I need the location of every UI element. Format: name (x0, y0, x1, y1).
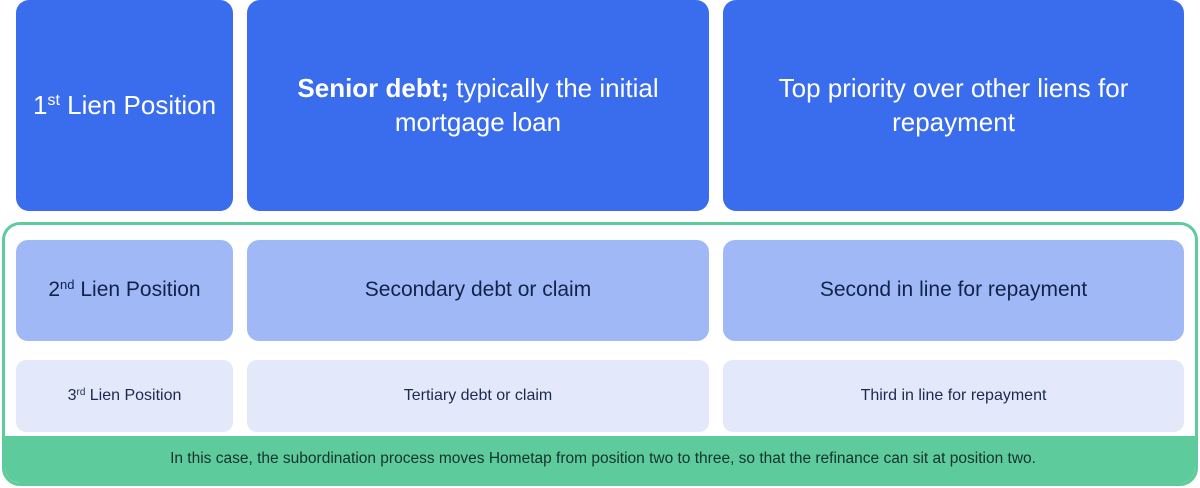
third-lien-ordinal-suffix: rd (77, 387, 86, 398)
second-lien-row: 2nd Lien Position Secondary debt or clai… (16, 240, 1184, 341)
subordination-note-bar: In this case, the subordination process … (5, 436, 1198, 483)
second-lien-ordinal-suffix: nd (60, 277, 74, 292)
first-lien-description-label: Senior debt; typically the initial mortg… (261, 72, 695, 139)
first-lien-priority-label: Top priority over other liens for repaym… (737, 72, 1170, 139)
row-gap (709, 0, 723, 211)
row-gap (233, 240, 247, 341)
first-lien-priority-card: Top priority over other liens for repaym… (723, 0, 1184, 211)
row-gap (233, 360, 247, 432)
third-lien-priority-card: Third in line for repayment (723, 360, 1184, 432)
first-lien-position-label: 1st Lien Position (33, 89, 216, 122)
second-lien-description-card: Secondary debt or claim (247, 240, 709, 341)
second-lien-priority-label: Second in line for repayment (820, 277, 1087, 304)
second-lien-position-card: 2nd Lien Position (16, 240, 233, 341)
first-lien-ordinal-number: 1 (33, 90, 47, 120)
second-lien-ordinal-number: 2 (48, 278, 60, 301)
row-gap (709, 360, 723, 432)
third-lien-position-card: 3rd Lien Position (16, 360, 233, 432)
third-lien-position-text: Lien Position (85, 387, 181, 404)
second-lien-position-text: Lien Position (75, 278, 201, 301)
first-lien-description-card: Senior debt; typically the initial mortg… (247, 0, 709, 211)
second-lien-priority-card: Second in line for repayment (723, 240, 1184, 341)
subordination-note-text: In this case, the subordination process … (170, 450, 1036, 469)
third-lien-priority-label: Third in line for repayment (861, 386, 1047, 406)
row-gap (233, 0, 247, 211)
third-lien-position-label: 3rd Lien Position (68, 386, 182, 406)
third-lien-row: 3rd Lien Position Tertiary debt or claim… (16, 360, 1184, 432)
second-lien-description-label: Secondary debt or claim (365, 277, 591, 304)
third-lien-ordinal-number: 3 (68, 387, 77, 404)
first-lien-ordinal-suffix: st (47, 91, 60, 109)
second-lien-position-label: 2nd Lien Position (48, 277, 200, 304)
third-lien-description-card: Tertiary debt or claim (247, 360, 709, 432)
first-lien-row: 1st Lien Position Senior debt; typically… (16, 0, 1184, 211)
third-lien-description-label: Tertiary debt or claim (404, 386, 553, 406)
first-lien-position-text: Lien Position (60, 90, 216, 120)
first-lien-description-emphasis: Senior debt; (297, 73, 449, 103)
first-lien-position-card: 1st Lien Position (16, 0, 233, 211)
row-gap (709, 240, 723, 341)
lien-position-diagram: 1st Lien Position Senior debt; typically… (0, 0, 1200, 488)
